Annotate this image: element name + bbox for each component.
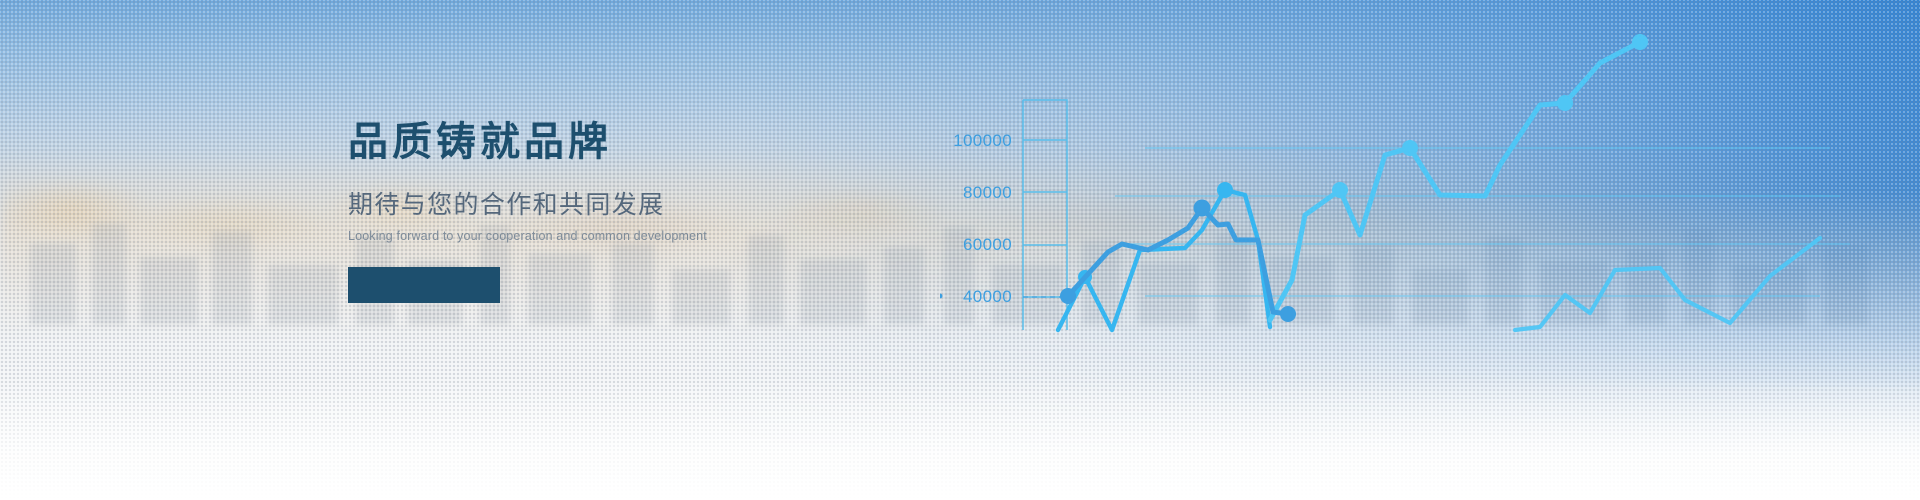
page-title: 品质铸就品牌: [348, 120, 768, 165]
cta-button[interactable]: [348, 267, 500, 303]
ytick-label: 100000: [953, 131, 1012, 150]
chart-series-2: [1058, 190, 1270, 330]
axis-bracket: [1023, 100, 1067, 330]
banner-subtitle: 期待与您的合作和共同发展: [348, 191, 768, 220]
chart-y-axis-labels: 100000 80000 60000 40000: [953, 131, 1012, 306]
hero-banner: 品质铸就品牌 期待与您的合作和共同发展 Looking forward to y…: [0, 0, 1920, 500]
banner-copy: 品质铸就品牌 期待与您的合作和共同发展 Looking forward to y…: [348, 120, 768, 303]
line-chart: 100000 80000 60000 40000: [940, 0, 1920, 430]
chart-series-3: [1270, 42, 1640, 320]
ytick-label: 40000: [963, 287, 1012, 306]
ytick-label: 80000: [963, 183, 1012, 202]
chart-series-2-markers: [1078, 182, 1233, 284]
banner-english-tagline: Looking forward to your cooperation and …: [348, 229, 768, 244]
chart-gridlines: [1115, 148, 1850, 296]
chart-series-4: [1515, 238, 1820, 330]
ytick-label: 60000: [963, 235, 1012, 254]
